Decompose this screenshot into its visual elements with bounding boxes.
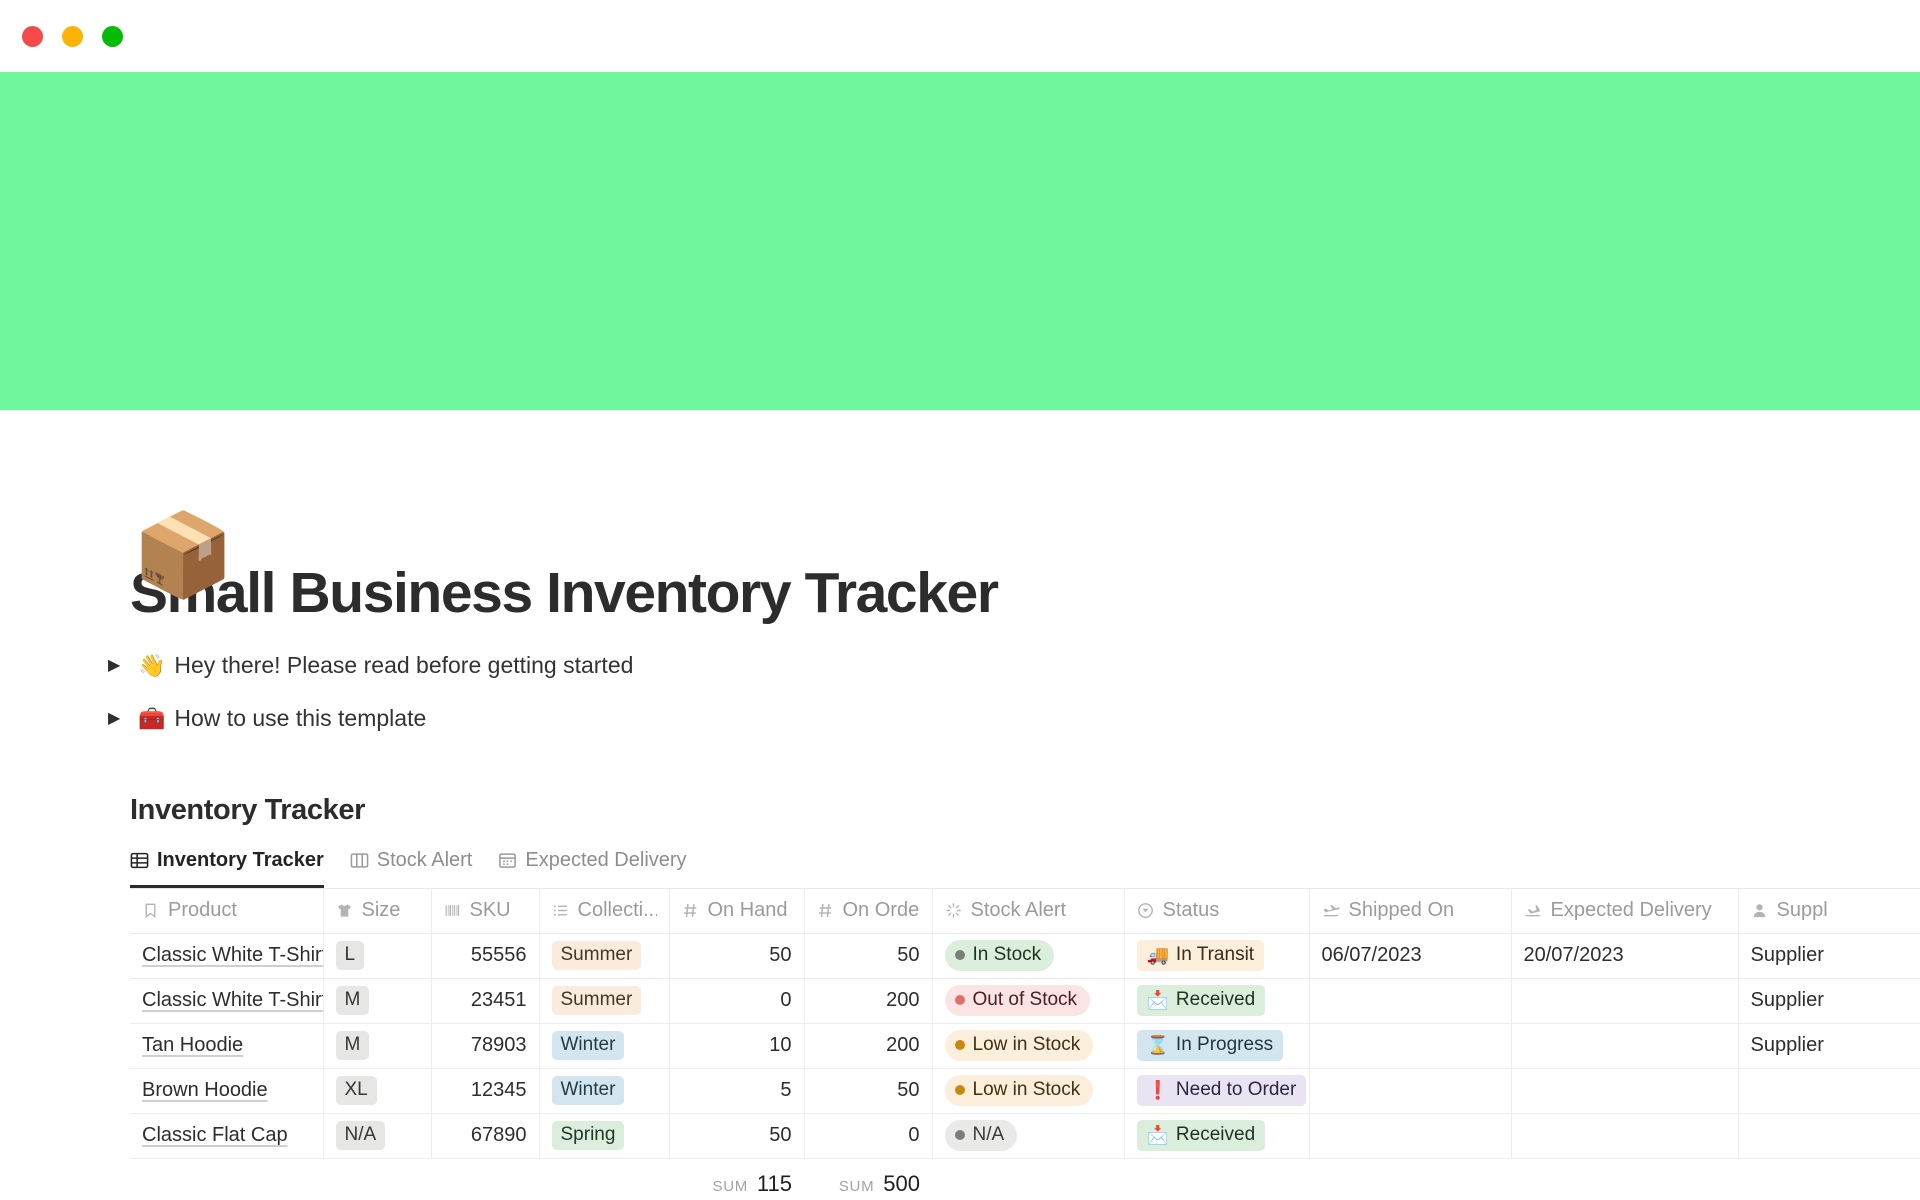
column-header-on-hand[interactable]: On Hand [669,889,804,933]
size-badge: M [336,1031,370,1060]
cell-sku[interactable]: 12345 [431,1068,539,1113]
collection-tag: Summer [552,941,642,970]
status-label: Received [1176,989,1255,1012]
tab-stock-alert[interactable]: Stock Alert [350,849,473,888]
sum-value: 500 [883,1171,920,1197]
table-row[interactable]: Brown Hoodie XL 12345 Winter 5 50 Low in… [130,1068,1920,1113]
column-label: Expected Delivery [1551,899,1712,922]
table-row[interactable]: Classic Flat Cap N/A 67890 Spring 50 0 N… [130,1113,1920,1158]
column-label: Status [1163,899,1220,922]
minimize-window-button[interactable] [62,26,83,47]
column-label: On Hand [708,899,788,922]
size-badge: L [336,941,365,970]
column-header-shipped-on[interactable]: Shipped On [1309,889,1511,933]
cell-size[interactable]: XL [323,1068,431,1113]
cell-sku[interactable]: 67890 [431,1113,539,1158]
cell-expected-delivery[interactable] [1511,1023,1738,1068]
cell-expected-delivery[interactable] [1511,1068,1738,1113]
column-header-collection[interactable]: Collecti... [539,889,669,933]
cell-status[interactable]: 📩Received [1124,1113,1309,1158]
cell-on-order[interactable]: 50 [804,1068,932,1113]
chevron-right-icon[interactable]: ▶ [108,711,138,727]
cell-size[interactable]: N/A [323,1113,431,1158]
toggle-label: Hey there! Please read before getting st… [174,652,633,679]
cell-size[interactable]: L [323,933,431,978]
inventory-table: Product Size SKU Collecti... On Hand On … [130,889,1920,1159]
cell-expected-delivery[interactable]: 20/07/2023 [1511,933,1738,978]
tab-label: Expected Delivery [525,849,686,872]
column-header-stock-alert[interactable]: Stock Alert [932,889,1124,933]
cell-stock-alert[interactable]: In Stock [932,933,1124,978]
cell-status[interactable]: ❗Need to Order [1124,1068,1309,1113]
status-dot-icon [955,1040,965,1050]
hourglass-icon: ⌛ [1147,1035,1169,1057]
stock-alert-badge: N/A [945,1120,1018,1151]
column-header-supplier[interactable]: Suppl [1738,889,1920,933]
toggle-block-how-to-use[interactable]: ▶ 🧰 How to use this template [130,705,1920,732]
column-label: SKU [470,899,511,922]
cell-on-order[interactable]: 0 [804,1113,932,1158]
cell-supplier[interactable]: Supplier [1738,1023,1920,1068]
cell-collection[interactable]: Winter [539,1023,669,1068]
cell-on-hand[interactable]: 5 [669,1068,804,1113]
column-label: Shipped On [1349,899,1455,922]
cell-supplier[interactable]: Supplier [1738,978,1920,1023]
cell-product[interactable]: Classic White T-Shirt [130,978,323,1023]
truck-icon: 🚚 [1147,945,1169,967]
cell-shipped-on[interactable]: 06/07/2023 [1309,933,1511,978]
toggle-block-welcome[interactable]: ▶ 👋 Hey there! Please read before gettin… [130,652,1920,679]
product-link[interactable]: Classic White T-Shirt [142,944,323,966]
product-link[interactable]: Classic White T-Shirt [142,989,323,1011]
column-label: Size [362,899,401,922]
toolbox-icon: 🧰 [138,706,165,732]
stock-alert-badge: Low in Stock [945,1030,1094,1061]
inventory-table-container: Product Size SKU Collecti... On Hand On … [130,888,1920,1200]
table-header-row: Product Size SKU Collecti... On Hand On … [130,889,1920,933]
page-icon[interactable]: 📦 [132,515,234,597]
size-badge: XL [336,1076,377,1105]
database-title[interactable]: Inventory Tracker [130,794,1920,827]
stock-alert-badge: Low in Stock [945,1075,1094,1106]
cell-supplier[interactable] [1738,1068,1920,1113]
cell-product[interactable]: Classic White T-Shirt [130,933,323,978]
column-header-on-order[interactable]: On Order [804,889,932,933]
maximize-window-button[interactable] [102,26,123,47]
column-header-status[interactable]: Status [1124,889,1309,933]
stock-alert-badge: Out of Stock [945,985,1091,1016]
status-badge: 📩Received [1137,985,1266,1016]
cell-stock-alert[interactable]: Low in Stock [932,1023,1124,1068]
tab-label: Inventory Tracker [157,849,324,872]
cell-shipped-on[interactable] [1309,1023,1511,1068]
cell-sku[interactable]: 78903 [431,1023,539,1068]
column-header-expected-delivery[interactable]: Expected Delivery [1511,889,1738,933]
sum-value: 115 [757,1171,792,1197]
tab-label: Stock Alert [377,849,473,872]
table-icon [130,851,149,870]
status-dot-icon [955,1085,965,1095]
table-row[interactable]: Tan Hoodie M 78903 Winter 10 200 Low in … [130,1023,1920,1068]
cell-status[interactable]: 📩Received [1124,978,1309,1023]
cell-collection[interactable]: Summer [539,978,669,1023]
table-summary-row: SUM 115 SUM 500 [130,1159,1920,1200]
collection-tag: Spring [552,1121,625,1150]
column-header-product[interactable]: Product [130,889,323,933]
column-label: Stock Alert [971,899,1067,922]
sum-label: SUM [839,1178,874,1195]
cell-on-order[interactable]: 50 [804,933,932,978]
status-dot-icon [955,995,965,1005]
cell-on-hand[interactable]: 50 [669,933,804,978]
cell-collection[interactable]: Summer [539,933,669,978]
cell-product[interactable]: Classic Flat Cap [130,1113,323,1158]
column-label: On Order [843,899,920,922]
cell-status[interactable]: 🚚In Transit [1124,933,1309,978]
cell-stock-alert[interactable]: N/A [932,1113,1124,1158]
column-label: Product [168,899,237,922]
product-link[interactable]: Brown Hoodie [142,1079,268,1101]
cell-sku[interactable]: 55556 [431,933,539,978]
size-badge: N/A [336,1121,386,1150]
board-icon [350,851,369,870]
stock-alert-label: In Stock [973,944,1042,967]
stock-alert-badge: In Stock [945,940,1055,971]
cell-on-hand[interactable]: 0 [669,978,804,1023]
product-link[interactable]: Classic Flat Cap [142,1124,288,1146]
inbox-tray-icon: 📩 [1147,1125,1169,1147]
page-title[interactable]: Small Business Inventory Tracker [130,560,1920,626]
chevron-right-icon[interactable]: ▶ [108,658,138,674]
cell-supplier[interactable] [1738,1113,1920,1158]
cell-shipped-on[interactable] [1309,978,1511,1023]
product-link[interactable]: Tan Hoodie [142,1034,243,1056]
column-header-sku[interactable]: SKU [431,889,539,933]
status-badge: ❗Need to Order [1137,1075,1307,1106]
cell-product[interactable]: Brown Hoodie [130,1068,323,1113]
stock-alert-label: Low in Stock [973,1079,1081,1102]
status-badge: ⌛In Progress [1137,1030,1284,1061]
exclamation-icon: ❗ [1147,1080,1169,1102]
status-dot-icon [955,1130,965,1140]
status-label: In Transit [1176,944,1254,967]
inbox-tray-icon: 📩 [1147,990,1169,1012]
cell-expected-delivery[interactable] [1511,978,1738,1023]
stock-alert-label: N/A [973,1124,1005,1147]
cell-stock-alert[interactable]: Out of Stock [932,978,1124,1023]
status-badge: 🚚In Transit [1137,940,1265,971]
tab-expected-delivery[interactable]: Expected Delivery [498,849,686,888]
cell-on-order[interactable]: 200 [804,1023,932,1068]
cell-expected-delivery[interactable] [1511,1113,1738,1158]
cell-stock-alert[interactable]: Low in Stock [932,1068,1124,1113]
cell-size[interactable]: M [323,978,431,1023]
status-badge: 📩Received [1137,1120,1266,1151]
database-view-tabs: Inventory Tracker Stock Alert [130,849,1920,888]
close-window-button[interactable] [22,26,43,47]
cell-shipped-on[interactable] [1309,1113,1511,1158]
cell-on-hand[interactable]: 50 [669,1113,804,1158]
status-label: Received [1176,1124,1255,1147]
sum-label: SUM [712,1178,747,1195]
cell-product[interactable]: Tan Hoodie [130,1023,323,1068]
sum-on-order[interactable]: SUM 500 [804,1171,932,1197]
cell-collection[interactable]: Winter [539,1068,669,1113]
stock-alert-label: Out of Stock [973,989,1078,1012]
page-cover-banner[interactable] [0,72,1920,410]
toggle-label: How to use this template [174,705,426,732]
calendar-icon [498,851,517,870]
cell-shipped-on[interactable] [1309,1068,1511,1113]
wave-hand-icon: 👋 [138,653,165,679]
collection-tag: Winter [552,1031,625,1060]
window-titlebar [0,0,1920,72]
status-label: Need to Order [1176,1079,1296,1102]
cell-status[interactable]: ⌛In Progress [1124,1023,1309,1068]
collection-tag: Winter [552,1076,625,1105]
cell-on-hand[interactable]: 10 [669,1023,804,1068]
tab-inventory-tracker[interactable]: Inventory Tracker [130,849,324,888]
table-body: Classic White T-Shirt L 55556 Summer 50 … [130,933,1920,1158]
cell-on-order[interactable]: 200 [804,978,932,1023]
collection-tag: Summer [552,986,642,1015]
status-label: In Progress [1176,1034,1273,1057]
column-header-size[interactable]: Size [323,889,431,933]
cell-supplier[interactable]: Supplier [1738,933,1920,978]
page-content: 📦 Small Business Inventory Tracker ▶ 👋 H… [0,560,1920,1200]
cell-collection[interactable]: Spring [539,1113,669,1158]
size-badge: M [336,986,370,1015]
stock-alert-label: Low in Stock [973,1034,1081,1057]
column-label: Collecti... [578,899,657,922]
table-row[interactable]: Classic White T-Shirt L 55556 Summer 50 … [130,933,1920,978]
sum-on-hand[interactable]: SUM 115 [669,1171,804,1197]
cell-sku[interactable]: 23451 [431,978,539,1023]
status-dot-icon [955,950,965,960]
column-label: Suppl [1777,899,1828,922]
table-row[interactable]: Classic White T-Shirt M 23451 Summer 0 2… [130,978,1920,1023]
cell-size[interactable]: M [323,1023,431,1068]
